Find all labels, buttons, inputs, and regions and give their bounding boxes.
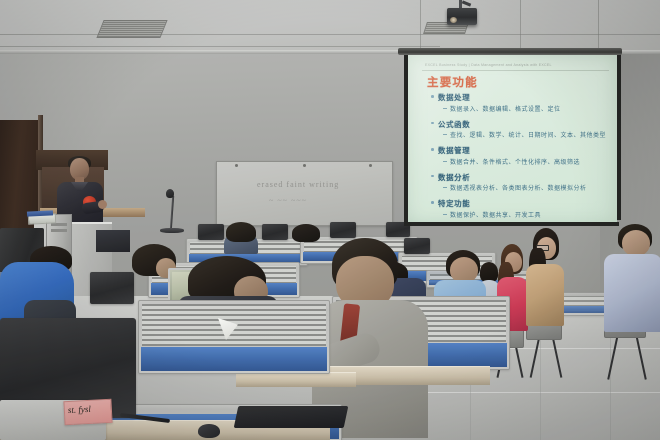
whiteboard-clip — [369, 164, 372, 167]
screen-edge — [404, 54, 408, 226]
monitor — [262, 224, 288, 240]
slide-bullet-heading: 数据分析 — [438, 172, 611, 183]
student-hair — [226, 222, 256, 242]
monitor — [90, 272, 134, 304]
monitor — [330, 222, 356, 238]
microphone-base — [160, 228, 184, 233]
slide-header-rule — [422, 70, 609, 71]
slide-bullet-detail: 数据透视表分析、各类图表分析、数据模拟分析 — [450, 183, 611, 192]
slide-bullet-list: 数据处理 数据录入、数据编辑、格式设置、定位 公式函数 查找、逻辑、数学、统计、… — [430, 92, 611, 223]
projection-screen: EXCEL Business Study | Data Management a… — [408, 55, 617, 223]
slide-bullet-heading: 数据管理 — [438, 145, 611, 156]
slide-bullet-detail: 查找、逻辑、数学、统计、日期时间、文本、其他类型 — [450, 130, 611, 139]
slide-bullet-heading: 特定功能 — [438, 198, 611, 209]
pc-drive-bay — [51, 229, 67, 232]
whiteboard: erased faint writing ~ ~~ ~~~ — [216, 161, 393, 226]
monitor — [198, 224, 224, 240]
partition-panel — [141, 347, 327, 371]
pc-drive-bay — [51, 223, 67, 226]
woman-coat — [526, 264, 564, 326]
projector — [447, 8, 477, 25]
whiteboard-clip — [235, 164, 238, 167]
computer-mouse[interactable] — [198, 424, 220, 438]
presenter-hand — [98, 200, 107, 209]
screen-edge — [406, 222, 619, 226]
whiteboard-clip — [303, 164, 306, 167]
sticky-note-text: st. fysl — [68, 404, 92, 415]
ceiling-seam — [520, 0, 521, 52]
slide-bullet-heading: 数据处理 — [438, 92, 611, 103]
ceiling-vent — [96, 20, 167, 38]
microphone-icon — [166, 189, 174, 198]
projection-screen-roller — [398, 48, 622, 55]
woman-tan-coat — [524, 228, 568, 328]
slide-bullet-heading: 公式函数 — [438, 119, 611, 130]
screen-edge — [617, 54, 621, 220]
man-head — [622, 230, 650, 256]
whiteboard-writing: ~ ~~ ~~~ — [269, 196, 307, 205]
man-shirt — [604, 254, 660, 332]
slide-bullet-detail: 数据合并、条件格式、个性化排序、高级筛选 — [450, 157, 611, 166]
desk-partition-foreground — [138, 300, 330, 374]
slide-header: EXCEL Business Study | Data Management a… — [425, 63, 607, 69]
sticky-note: st. fysl — [63, 399, 112, 425]
podium-laptop — [96, 230, 130, 252]
projector-lens-icon — [450, 17, 457, 23]
slide-bullet-detail: 数据录入、数据编辑、格式设置、定位 — [450, 104, 611, 113]
student-back-row — [226, 222, 256, 244]
classroom-photo: erased faint writing ~ ~~ ~~~ EXCEL Busi… — [0, 0, 660, 440]
desk-surface — [236, 372, 356, 387]
whiteboard-writing: erased faint writing — [257, 180, 339, 189]
slide-title: 主要功能 — [427, 74, 478, 90]
ceiling-seam — [598, 0, 599, 50]
keyboard[interactable] — [234, 406, 349, 428]
slide-bullet-detail: 数据保护、数据共享、开发工具 — [450, 210, 611, 219]
ceiling-seam — [0, 46, 440, 47]
man-lavender-shirt — [604, 224, 660, 332]
